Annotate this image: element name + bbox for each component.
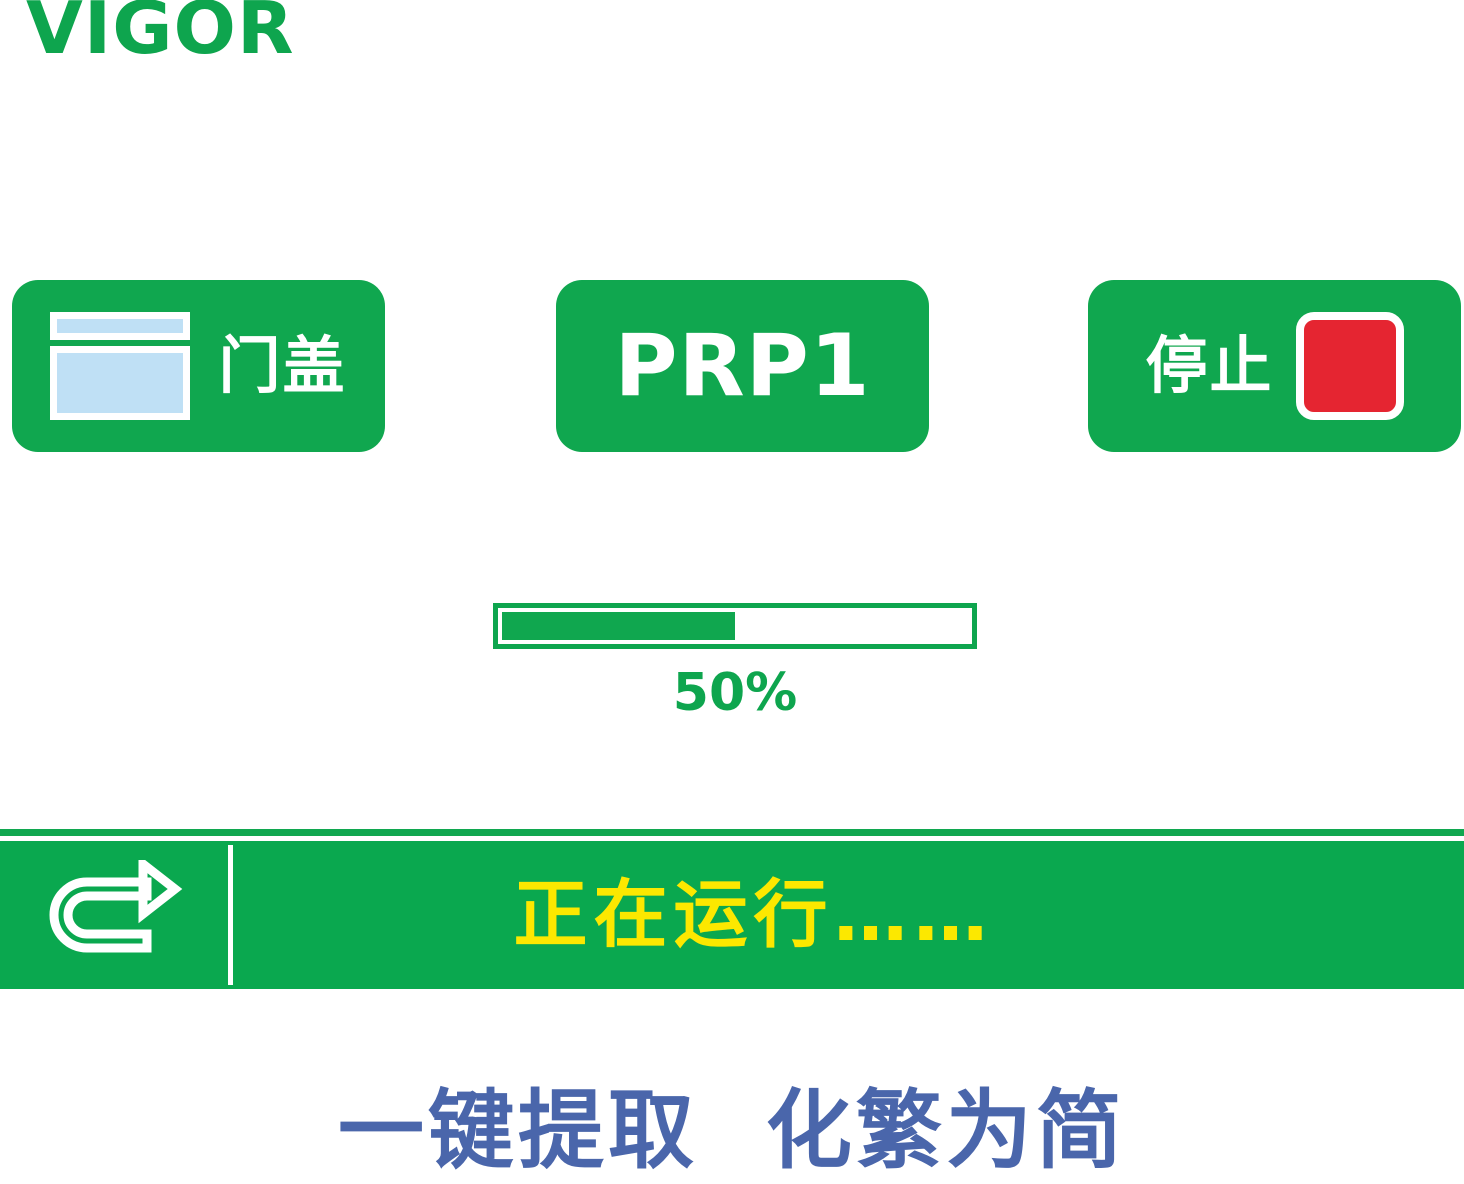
window-icon-titlebar (50, 312, 190, 340)
door-lid-button-label: 门盖 (218, 335, 346, 397)
status-message: 正在运行…… (514, 878, 994, 952)
program-button[interactable]: PRP1 (556, 280, 929, 452)
stop-square-icon (1296, 312, 1404, 420)
program-button-label: PRP1 (614, 323, 870, 409)
status-bar-top-rule (0, 829, 1464, 836)
status-icon-cell (0, 841, 228, 989)
window-icon-body (50, 346, 190, 420)
tagline: 一键提取 化繁为简 (0, 1084, 1464, 1179)
progress-bar[interactable] (493, 603, 977, 649)
button-row: 门盖 PRP1 停止 (0, 280, 1464, 452)
stop-button[interactable]: 停止 (1088, 280, 1461, 452)
progress-block: 50% (493, 603, 977, 719)
stop-button-label: 停止 (1145, 335, 1273, 397)
status-text-cell: 正在运行…… (233, 841, 1464, 989)
loop-arrow-icon (39, 860, 189, 970)
door-lid-button[interactable]: 门盖 (12, 280, 385, 452)
brand-logo: VIGOR (26, 0, 295, 64)
window-icon (50, 312, 190, 420)
progress-bar-fill (502, 612, 735, 640)
status-bar: 正在运行…… (0, 841, 1464, 989)
progress-percent-label: 50% (493, 667, 977, 719)
